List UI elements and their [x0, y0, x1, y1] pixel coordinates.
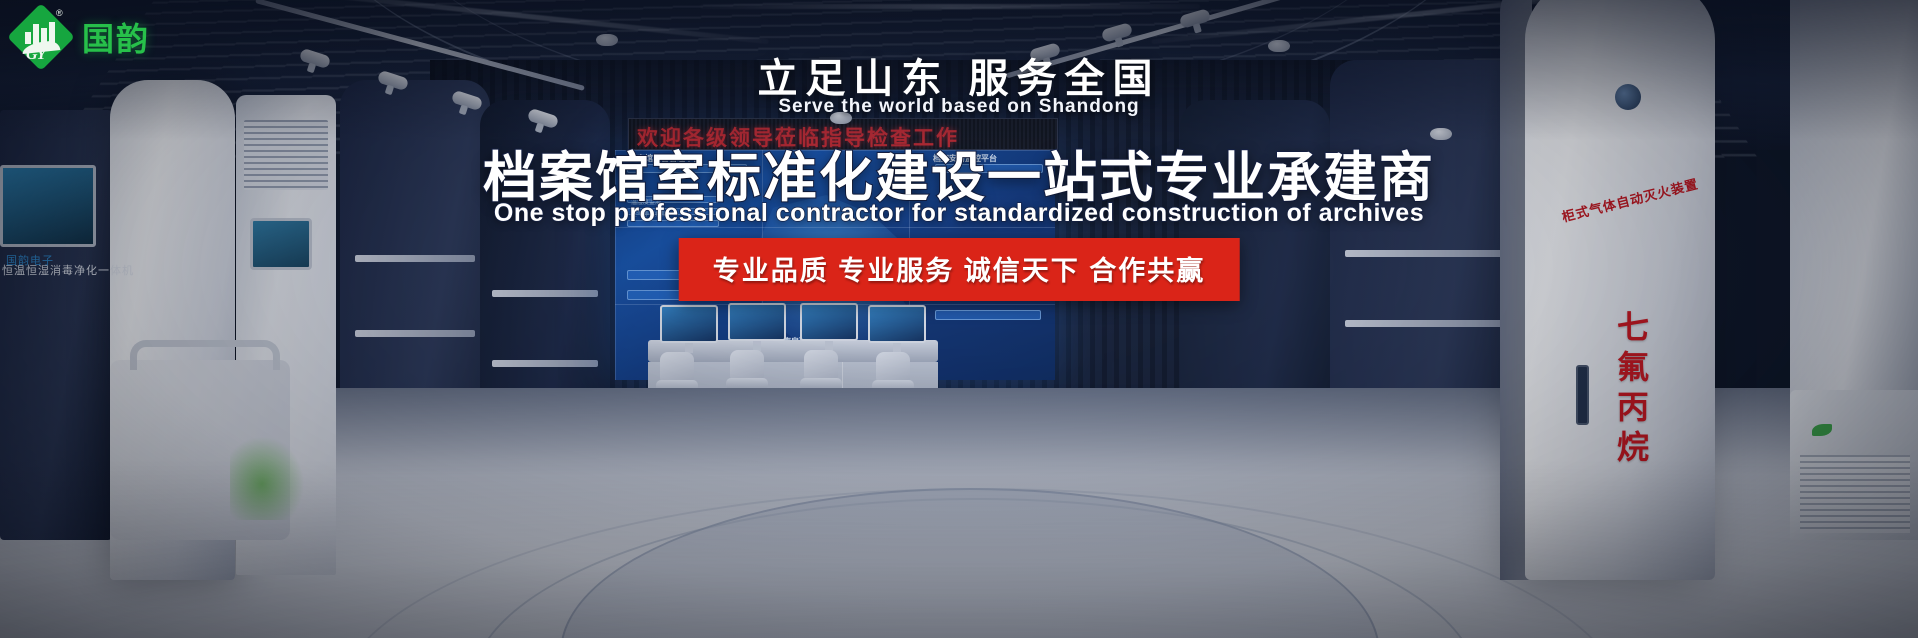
chair-back — [730, 350, 764, 380]
shelf-board — [355, 255, 475, 262]
brand-name: 国韵 — [82, 14, 150, 60]
chair-back — [660, 352, 694, 382]
shelf-board — [492, 290, 598, 297]
shelf-board — [355, 330, 475, 337]
monitor — [660, 305, 718, 343]
monitor — [800, 303, 858, 341]
pillar-handle-slot — [1576, 365, 1589, 425]
ceiling-light-strip — [700, 4, 1200, 9]
logo-monogram: GY — [26, 46, 58, 64]
shelf-board — [492, 360, 598, 367]
gy-green-diamond-logo-icon: GY ® — [10, 6, 72, 68]
hero-subheadline-en: Serve the world based on Shandong — [0, 96, 1918, 118]
hero-banner: 档案馆综合管理平台 档案安防监控平台 智慧库房环境监测 温湿度监测 空气净化控制… — [0, 0, 1918, 638]
chair-back — [804, 350, 838, 380]
slogan-text: 专业品质 专业服务 诚信天下 合作共赢 — [713, 256, 1206, 286]
smoke-detector-icon — [596, 34, 618, 46]
shelf-board — [1345, 320, 1505, 327]
slogan-banner: 专业品质 专业服务 诚信天下 合作共赢 — [679, 238, 1240, 301]
chair-back — [876, 352, 910, 382]
cart-handle — [130, 340, 280, 370]
heptafluoropropane-vertical-label: 七氟丙烷 — [1608, 310, 1654, 470]
bottom-right-unit-vent — [1800, 455, 1910, 533]
site-logo[interactable]: GY ® 国韵 — [10, 6, 150, 68]
leaf-decal — [230, 430, 310, 520]
shelf-board — [1345, 250, 1505, 257]
buildings-icon — [25, 22, 59, 44]
monitor — [868, 305, 926, 343]
hero-main-title-en: One stop professional contractor for sta… — [0, 199, 1918, 228]
machine-model-label: 恒温恒湿消毒净化一体机 — [2, 262, 134, 278]
monitor — [728, 303, 786, 341]
registered-trademark-icon: ® — [56, 8, 63, 18]
